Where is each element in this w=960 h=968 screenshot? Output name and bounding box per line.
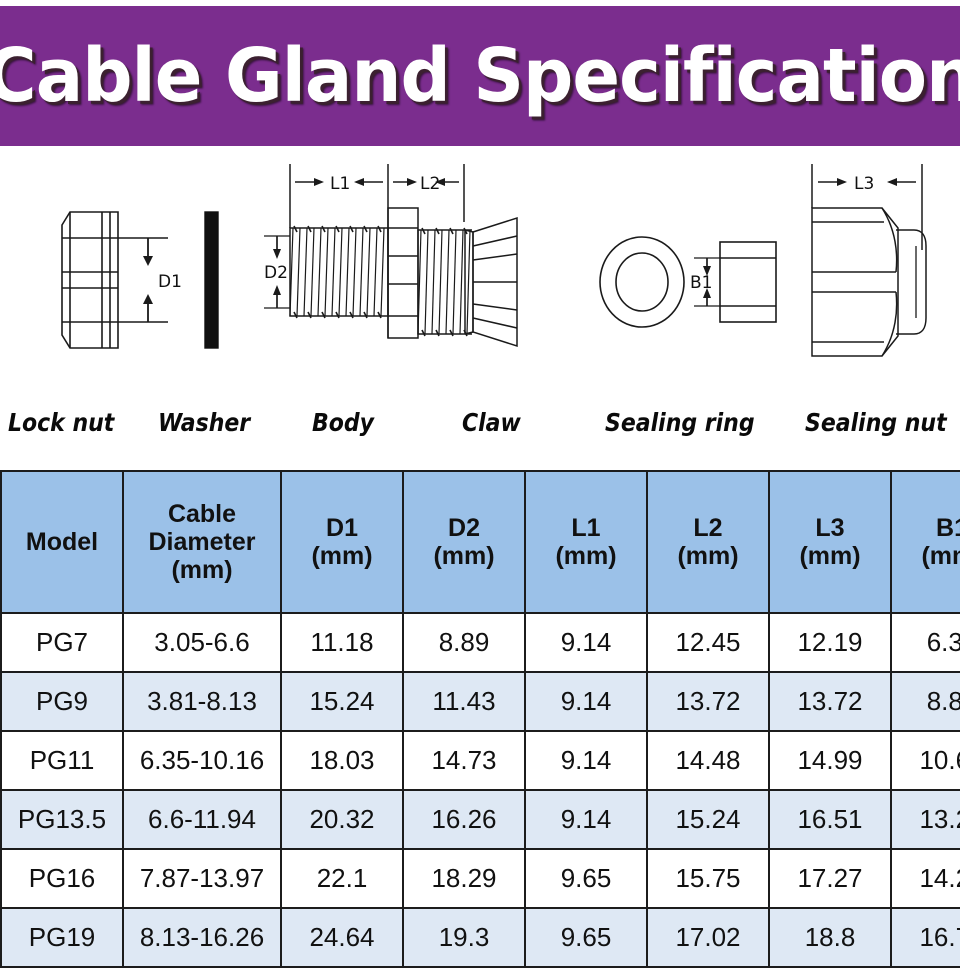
cell-model: PG9 [1, 672, 123, 731]
cell-model: PG7 [1, 613, 123, 672]
cell-model: PG13.5 [1, 790, 123, 849]
cell-d2: 18.29 [403, 849, 525, 908]
column-header-d2: D2 (mm) [403, 471, 525, 613]
cell-l3: 14.99 [769, 731, 891, 790]
specification-table: Model Cable Diameter (mm) D1 (mm) D2 (mm… [0, 470, 960, 968]
cell-d1: 18.03 [281, 731, 403, 790]
column-header-cable-diameter: Cable Diameter (mm) [123, 471, 281, 613]
cell-d2: 14.73 [403, 731, 525, 790]
part-label-body: Body [312, 408, 374, 437]
cell-diameter: 6.35-10.16 [123, 731, 281, 790]
sealing-ring-drawing: B1 [590, 150, 780, 380]
dimension-label-b1: B1 [690, 273, 712, 293]
cell-l2: 12.45 [647, 613, 769, 672]
cell-model: PG11 [1, 731, 123, 790]
column-header-model: Model [1, 471, 123, 613]
dimension-label-d2: D2 [264, 263, 288, 283]
cell-diameter: 3.05-6.6 [123, 613, 281, 672]
cell-l3: 16.51 [769, 790, 891, 849]
body-drawing: D2 L1 L2 [262, 150, 472, 380]
claw-drawing [455, 150, 575, 380]
cell-l1: 9.14 [525, 672, 647, 731]
table-header: Model Cable Diameter (mm) D1 (mm) D2 (mm… [1, 471, 960, 613]
cell-b1: 16.76 [891, 908, 960, 967]
cell-b1: 8.89 [891, 672, 960, 731]
part-label-sealing-nut: Sealing nut [805, 408, 947, 437]
cell-l3: 13.72 [769, 672, 891, 731]
column-header-l3: L3 (mm) [769, 471, 891, 613]
cell-b1: 14.22 [891, 849, 960, 908]
cell-l2: 15.24 [647, 790, 769, 849]
cell-b1: 10.67 [891, 731, 960, 790]
part-washer [175, 150, 255, 380]
column-header-b1: B1 (mm) [891, 471, 960, 613]
cell-l1: 9.65 [525, 849, 647, 908]
column-header-l1: L1 (mm) [525, 471, 647, 613]
sealing-nut-drawing: L3 [790, 150, 950, 380]
cell-diameter: 8.13-16.26 [123, 908, 281, 967]
dimension-label-l3: L3 [854, 174, 874, 194]
cell-d2: 19.3 [403, 908, 525, 967]
component-diagram-strip: D1 [0, 150, 960, 470]
table-body: PG7 3.05-6.6 11.18 8.89 9.14 12.45 12.19… [1, 613, 960, 967]
cell-l2: 13.72 [647, 672, 769, 731]
cell-diameter: 7.87-13.97 [123, 849, 281, 908]
cell-model: PG19 [1, 908, 123, 967]
table-row: PG19 8.13-16.26 24.64 19.3 9.65 17.02 18… [1, 908, 960, 967]
cell-l3: 12.19 [769, 613, 891, 672]
cell-d2: 11.43 [403, 672, 525, 731]
cell-l3: 18.8 [769, 908, 891, 967]
part-sealing-ring: B1 [590, 150, 780, 380]
part-label-lock-nut: Lock nut [8, 408, 114, 437]
table-row: PG13.5 6.6-11.94 20.32 16.26 9.14 15.24 … [1, 790, 960, 849]
column-header-d1: D1 (mm) [281, 471, 403, 613]
cell-model: PG16 [1, 849, 123, 908]
cell-b1: 6.35 [891, 613, 960, 672]
part-claw [455, 150, 575, 380]
column-header-l2: L2 (mm) [647, 471, 769, 613]
dimension-label-l2: L2 [420, 174, 440, 194]
part-label-washer: Washer [158, 408, 250, 437]
cell-diameter: 6.6-11.94 [123, 790, 281, 849]
table-row: PG16 7.87-13.97 22.1 18.29 9.65 15.75 17… [1, 849, 960, 908]
part-label-claw: Claw [462, 408, 521, 437]
table-header-row: Model Cable Diameter (mm) D1 (mm) D2 (mm… [1, 471, 960, 613]
cell-l1: 9.14 [525, 790, 647, 849]
cell-d1: 20.32 [281, 790, 403, 849]
cell-d1: 15.24 [281, 672, 403, 731]
part-body: D2 L1 L2 [262, 150, 472, 380]
cell-d1: 22.1 [281, 849, 403, 908]
cell-b1: 13.21 [891, 790, 960, 849]
part-label-sealing-ring: Sealing ring [605, 408, 755, 437]
part-sealing-nut: L3 [790, 150, 950, 380]
cell-l1: 9.14 [525, 731, 647, 790]
cell-l3: 17.27 [769, 849, 891, 908]
cell-l2: 15.75 [647, 849, 769, 908]
cell-d1: 11.18 [281, 613, 403, 672]
cell-diameter: 3.81-8.13 [123, 672, 281, 731]
dimension-label-l1: L1 [330, 174, 350, 194]
table-row: PG9 3.81-8.13 15.24 11.43 9.14 13.72 13.… [1, 672, 960, 731]
washer-drawing [175, 150, 255, 380]
table-row: PG11 6.35-10.16 18.03 14.73 9.14 14.48 1… [1, 731, 960, 790]
table-row: PG7 3.05-6.6 11.18 8.89 9.14 12.45 12.19… [1, 613, 960, 672]
cell-l2: 14.48 [647, 731, 769, 790]
cell-d2: 8.89 [403, 613, 525, 672]
cell-d2: 16.26 [403, 790, 525, 849]
page-title: Cable Gland Specification [0, 39, 960, 113]
cell-l2: 17.02 [647, 908, 769, 967]
header-banner: Cable Gland Specification [0, 6, 960, 146]
cell-l1: 9.14 [525, 613, 647, 672]
cell-d1: 24.64 [281, 908, 403, 967]
cell-l1: 9.65 [525, 908, 647, 967]
